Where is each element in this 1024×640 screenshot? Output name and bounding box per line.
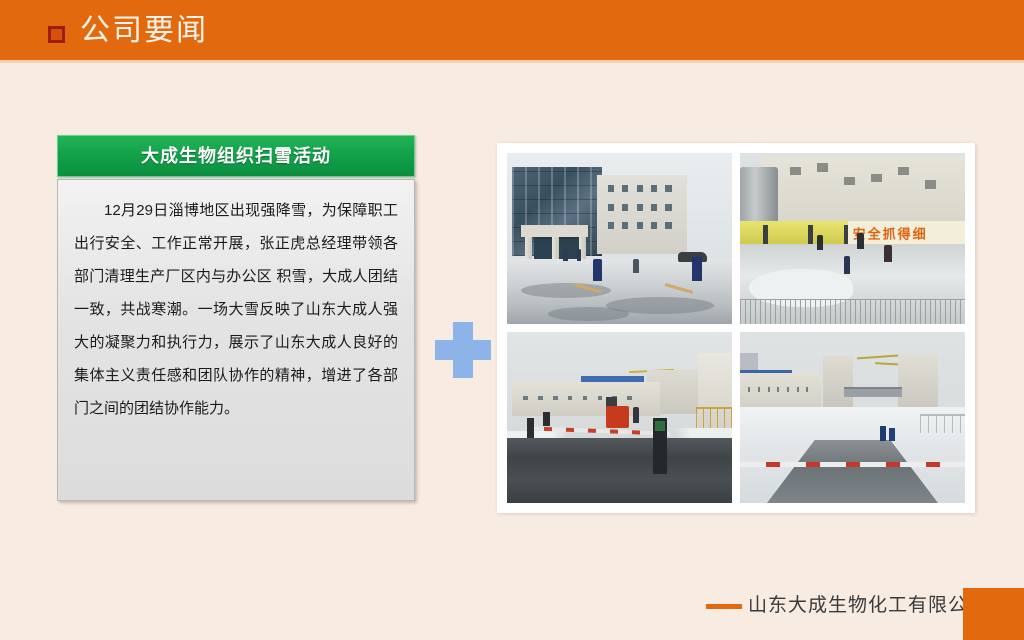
photo3-window xyxy=(583,396,587,400)
photo4-worker xyxy=(880,426,887,441)
photo4-window xyxy=(797,387,799,392)
photo3-window xyxy=(523,396,527,400)
footer-rule xyxy=(706,604,742,609)
photo3-forklift xyxy=(606,406,629,428)
photo2-safety-banner: 安全抓得细 xyxy=(848,221,965,243)
photo1-window xyxy=(608,222,614,229)
footer-accent-block xyxy=(963,588,1024,640)
photo2-vent xyxy=(898,167,909,176)
photo2-vent xyxy=(844,177,855,186)
photo-panel: 安全抓得细 xyxy=(497,143,975,513)
cross-vertical-bar xyxy=(453,322,473,378)
photo3-bollard xyxy=(527,418,534,439)
photo4-pipe-bridge xyxy=(844,387,903,398)
photo1-window xyxy=(651,185,657,192)
photo1-office-wing xyxy=(597,175,687,254)
photo1-window xyxy=(637,222,643,229)
cross-plus-icon xyxy=(435,322,491,378)
photo1-worker xyxy=(692,257,702,281)
photo2-vent xyxy=(871,174,882,183)
photo1-window xyxy=(608,204,614,211)
photo3-window xyxy=(568,396,572,400)
photo-office-building-snow-sweeping[interactable] xyxy=(507,153,732,324)
header-underline xyxy=(0,60,1024,63)
photo4-window xyxy=(758,387,760,392)
photo1-window xyxy=(665,222,671,229)
photo1-window xyxy=(651,204,657,211)
photo1-window xyxy=(622,185,628,192)
photo1-slush xyxy=(548,307,629,321)
photo3-window xyxy=(553,396,557,400)
photo-snowy-plant-road[interactable] xyxy=(740,332,965,503)
news-card: 大成生物组织扫雪活动 12月29日淄博地区出现强降雪，为保障职工出行安全、工作正… xyxy=(57,135,415,501)
photo4-center-building xyxy=(823,356,852,407)
news-paragraph: 12月29日淄博地区出现强降雪，为保障职工出行安全、工作正常开展，张正虎总经理带… xyxy=(74,194,398,425)
photo2-vent xyxy=(790,167,801,176)
photo2-worker xyxy=(844,256,851,275)
photo4-window xyxy=(787,387,789,392)
photo3-window xyxy=(538,396,542,400)
photo3-worker xyxy=(633,407,639,422)
photo4-striped-barrier xyxy=(740,462,965,467)
news-body: 12月29日淄博地区出现强降雪，为保障职工出行安全、工作正常开展，张正虎总经理带… xyxy=(57,179,415,501)
photo1-worker xyxy=(563,249,568,261)
photo2-worker xyxy=(817,235,824,250)
photo3-bollard xyxy=(543,412,550,426)
page-title: 公司要闻 xyxy=(80,12,208,50)
photo1-window xyxy=(622,204,628,211)
photo2-fence xyxy=(740,299,965,324)
photo1-window xyxy=(622,222,628,229)
photo1-worker xyxy=(593,259,602,281)
photo4-window xyxy=(777,387,779,392)
photo3-blue-roof xyxy=(581,376,644,382)
photo-plant-safety-banner[interactable]: 安全抓得细 xyxy=(740,153,965,324)
photo1-window xyxy=(637,185,643,192)
slide-root: 公司要闻 大成生物组织扫雪活动 12月29日淄博地区出现强降雪，为保障职工出行安… xyxy=(0,0,1024,640)
photo1-window xyxy=(665,204,671,211)
photo3-gate-display xyxy=(655,421,665,431)
photo2-vent xyxy=(817,163,828,172)
news-title: 大成生物组织扫雪活动 xyxy=(57,135,415,177)
square-bullet-icon xyxy=(48,26,65,43)
photo2-vent xyxy=(925,180,936,189)
photo1-window xyxy=(665,185,671,192)
photo2-worker xyxy=(884,245,892,262)
photo4-right-building xyxy=(898,354,939,409)
photo3-window xyxy=(627,396,631,400)
photo1-window xyxy=(608,185,614,192)
photo1-window xyxy=(637,204,643,211)
photo-cleared-road-gate[interactable] xyxy=(507,332,732,503)
photo2-banner-text: 安全抓得细 xyxy=(853,223,928,242)
photo1-window xyxy=(651,222,657,229)
photo4-window xyxy=(806,387,808,392)
photo4-worker xyxy=(889,428,896,442)
photo4-window xyxy=(768,387,770,392)
photo3-window xyxy=(598,396,602,400)
photo1-canopy xyxy=(521,225,589,237)
photo2-worker xyxy=(857,233,864,248)
footer-company-name: 山东大成生物化工有限公司 xyxy=(748,592,988,620)
photo1-worker xyxy=(577,249,582,261)
photo1-worker xyxy=(633,259,639,273)
photo3-cleared-road xyxy=(507,438,732,503)
photo4-window xyxy=(748,387,750,392)
photo2-storage-tank xyxy=(740,167,778,225)
photo4-railing xyxy=(920,414,965,433)
